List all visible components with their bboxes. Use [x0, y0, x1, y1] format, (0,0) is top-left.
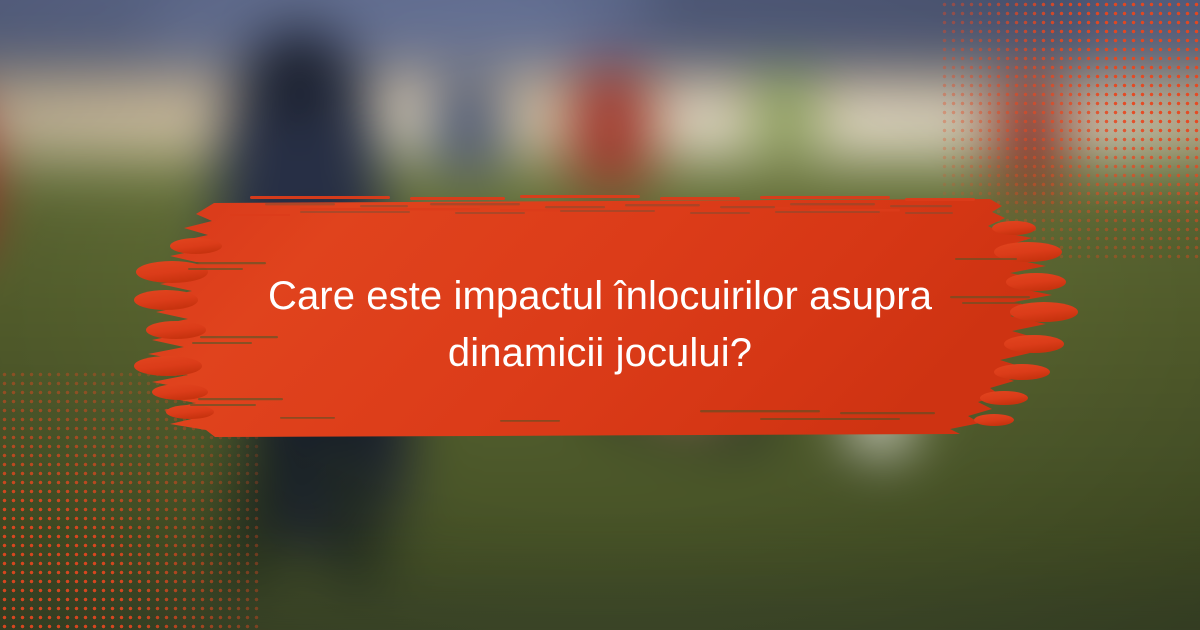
quote-card: Care este impactul înlocuirilor asupra d… — [0, 0, 1200, 630]
quote-text: Care este impactul înlocuirilor asupra d… — [190, 268, 1010, 382]
quote-line-2: dinamicii jocului? — [190, 325, 1010, 382]
quote-line-1: Care este impactul înlocuirilor asupra — [190, 268, 1010, 325]
